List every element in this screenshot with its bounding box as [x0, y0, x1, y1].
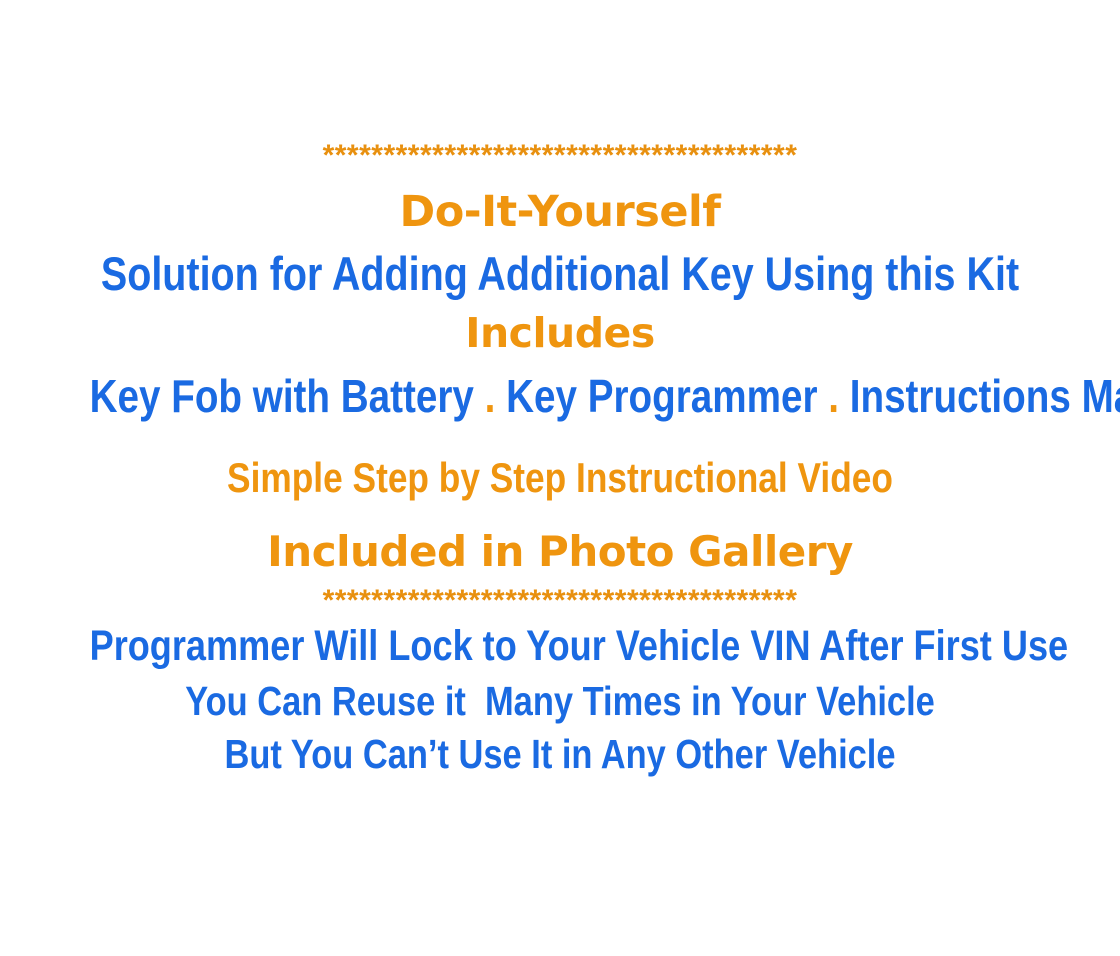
note-reuse-many-times: You Can Reuse it Many Times in Your Vehi… — [90, 681, 1031, 722]
contents-separator-1: . — [485, 370, 496, 422]
note-cannot-use-other-vehicle: But You Can’t Use It in Any Other Vehicl… — [90, 734, 1031, 775]
contents-separator-space — [495, 370, 506, 422]
promo-panel: *************************************** … — [0, 0, 1120, 956]
contents-separator-2: . — [828, 370, 839, 422]
contents-item-key-programmer: Key Programmer — [506, 370, 817, 422]
heading-includes: Includes — [0, 313, 1120, 354]
heading-instructional-video: Simple Step by Step Instructional Video — [90, 457, 1031, 499]
heading-solution-for-adding-key: Solution for Adding Additional Key Using… — [90, 250, 1031, 297]
contents-separator-dot — [474, 370, 485, 422]
contents-item-instructions-manual: Instructions Manual — [850, 370, 1120, 422]
heading-do-it-yourself: Do-It-Yourself — [0, 191, 1120, 234]
divider-stars-bottom: *************************************** — [0, 586, 1120, 616]
note-programmer-vin-lock: Programmer Will Lock to Your Vehicle VIN… — [90, 625, 1031, 668]
heading-included-in-photo-gallery: Included in Photo Gallery — [0, 531, 1120, 573]
contents-separator-space-2 — [839, 370, 850, 422]
divider-stars-top: *************************************** — [0, 141, 1120, 171]
contents-item-key-fob: Key Fob with Battery — [90, 370, 474, 422]
contents-separator-dot-2 — [818, 370, 829, 422]
contents-list: Key Fob with Battery . Key Programmer . … — [90, 373, 1031, 419]
